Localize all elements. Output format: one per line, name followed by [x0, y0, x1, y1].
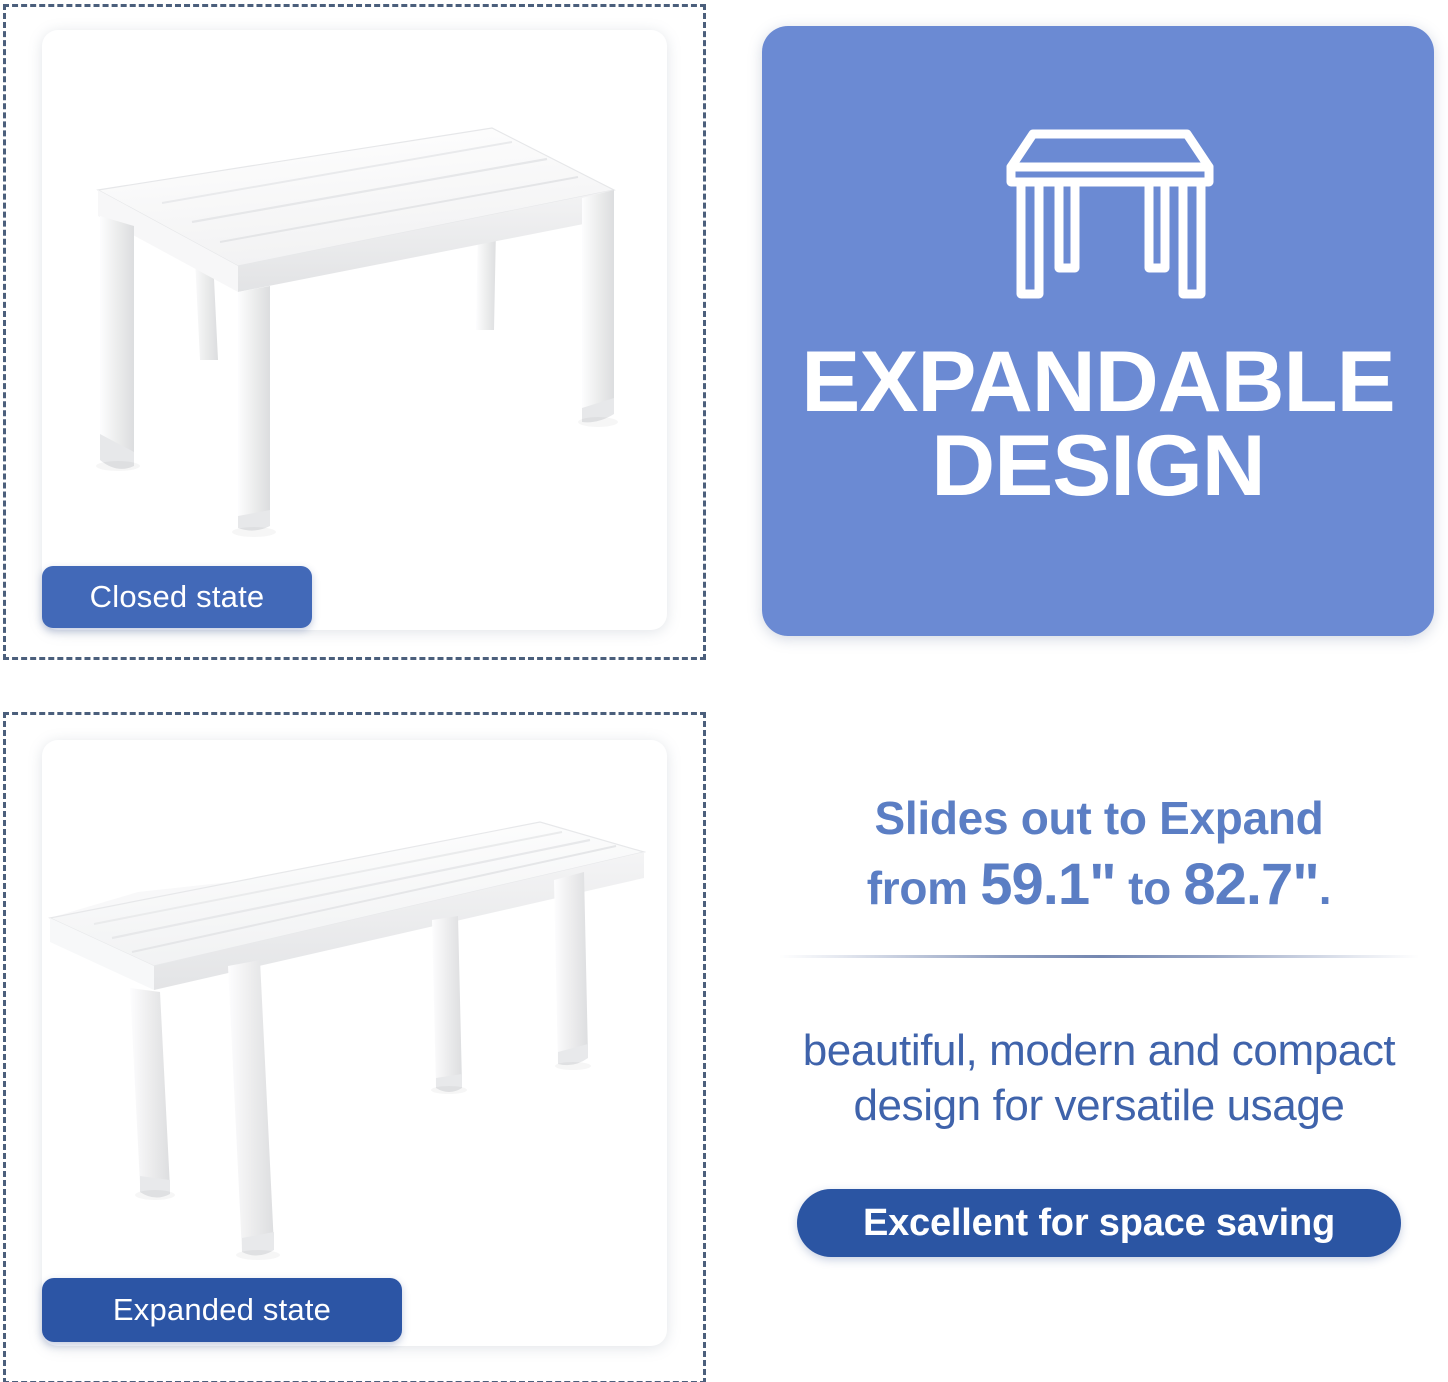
closed-state-table-photo: [42, 30, 667, 630]
headline-line-1: Slides out to Expand: [764, 790, 1434, 848]
table-expanded-illustration: [42, 740, 667, 1346]
badge-closed-state: Closed state: [42, 566, 312, 628]
expandable-design-panel: EXPANDABLE DESIGN: [762, 26, 1434, 636]
panel-title-line-2: DESIGN: [752, 424, 1444, 508]
infographic-canvas: Closed state: [0, 0, 1448, 1382]
design-subcopy: beautiful, modern and compact design for…: [756, 1024, 1442, 1133]
headline-middle: to: [1116, 862, 1184, 914]
badge-expanded-state: Expanded state: [42, 1278, 402, 1342]
badge-expanded-label: Expanded state: [113, 1292, 331, 1328]
expanded-state-photo-card: [42, 740, 667, 1346]
measure-min: 59.1": [980, 852, 1115, 917]
feature-copy-column: Slides out to Expand from 59.1" to 82.7"…: [756, 790, 1442, 1350]
panel-title-line-1: EXPANDABLE: [752, 340, 1444, 424]
headline-suffix: .: [1319, 862, 1331, 914]
space-saving-button-label: Excellent for space saving: [863, 1202, 1335, 1245]
panel-title: EXPANDABLE DESIGN: [752, 340, 1444, 509]
headline-prefix: from: [867, 862, 981, 914]
table-closed-illustration: [42, 30, 667, 630]
section-divider: [779, 955, 1419, 958]
closed-state-photo-card: [42, 30, 667, 630]
space-saving-button[interactable]: Excellent for space saving: [797, 1189, 1401, 1257]
table-outline-icon: [963, 120, 1233, 308]
expand-headline: Slides out to Expand from 59.1" to 82.7"…: [756, 790, 1442, 921]
subcopy-line-1: beautiful, modern and compact: [756, 1024, 1442, 1079]
measure-max: 82.7": [1183, 852, 1318, 917]
subcopy-line-2: design for versatile usage: [756, 1079, 1442, 1134]
badge-closed-label: Closed state: [90, 579, 265, 615]
expanded-state-table-photo: [42, 740, 667, 1346]
headline-line-2: from 59.1" to 82.7".: [764, 848, 1434, 921]
